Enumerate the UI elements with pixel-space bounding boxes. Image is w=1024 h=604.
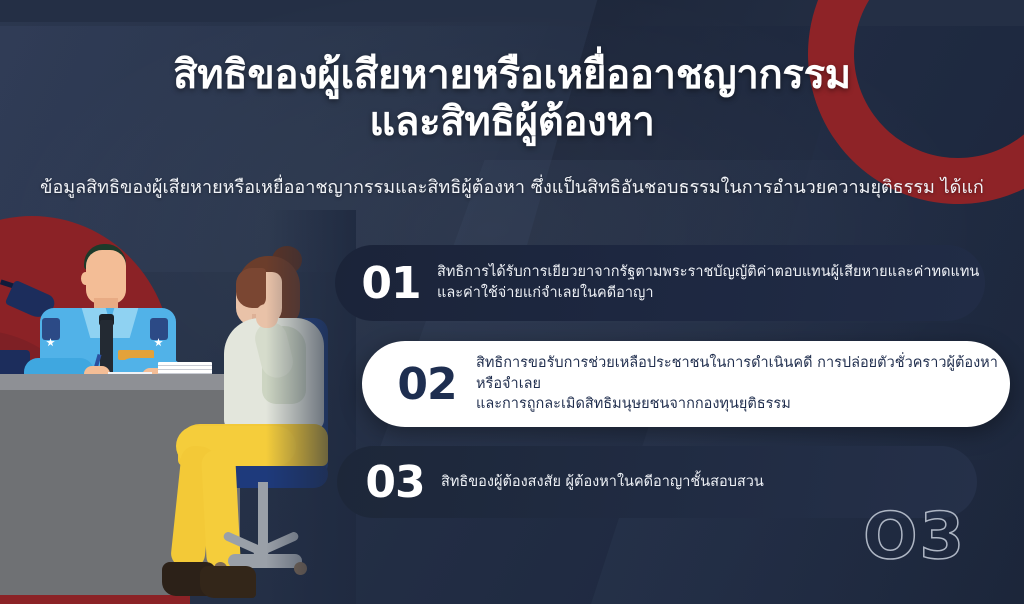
woman-shoe-back [200, 566, 256, 598]
list-item-02[interactable]: 02 สิทธิการขอรับการช่วยเหลือประชาชนในการ… [362, 341, 1010, 427]
list-item-number: 03 [355, 457, 435, 508]
woman-leg-back [201, 449, 241, 571]
page-title: สิทธิของผู้เสียหายหรือเหยื่ออาชญากรรม แล… [0, 52, 1024, 146]
list-item-text: สิทธิของผู้ต้องสงสัย ผู้ต้องหาในคดีอาญาช… [435, 472, 764, 493]
officer-epaulette-right [150, 318, 168, 340]
page-number-outline: O3 [863, 500, 966, 574]
page-subtitle: ข้อมูลสิทธิของผู้เสียหายหรือเหยื่ออาชญาก… [0, 172, 1024, 201]
illustration-police-interview [0, 210, 356, 604]
slide-canvas: สิทธิของผู้เสียหายหรือเหยื่ออาชญากรรม แล… [0, 0, 1024, 604]
woman-hair-side [236, 268, 266, 308]
list-item-01[interactable]: 01 สิทธิการได้รับการเยียวยาจากรัฐตามพระร… [335, 245, 985, 321]
list-item-number: 02 [384, 359, 470, 410]
officer-head [86, 250, 126, 304]
list-item-number: 01 [351, 258, 431, 309]
list-item-text: สิทธิการได้รับการเยียวยาจากรัฐตามพระราชบ… [431, 262, 979, 303]
officer-epaulette-left [42, 318, 60, 340]
list-item-text: สิทธิการขอรับการช่วยเหลือประชาชนในการดำเ… [470, 353, 1010, 415]
